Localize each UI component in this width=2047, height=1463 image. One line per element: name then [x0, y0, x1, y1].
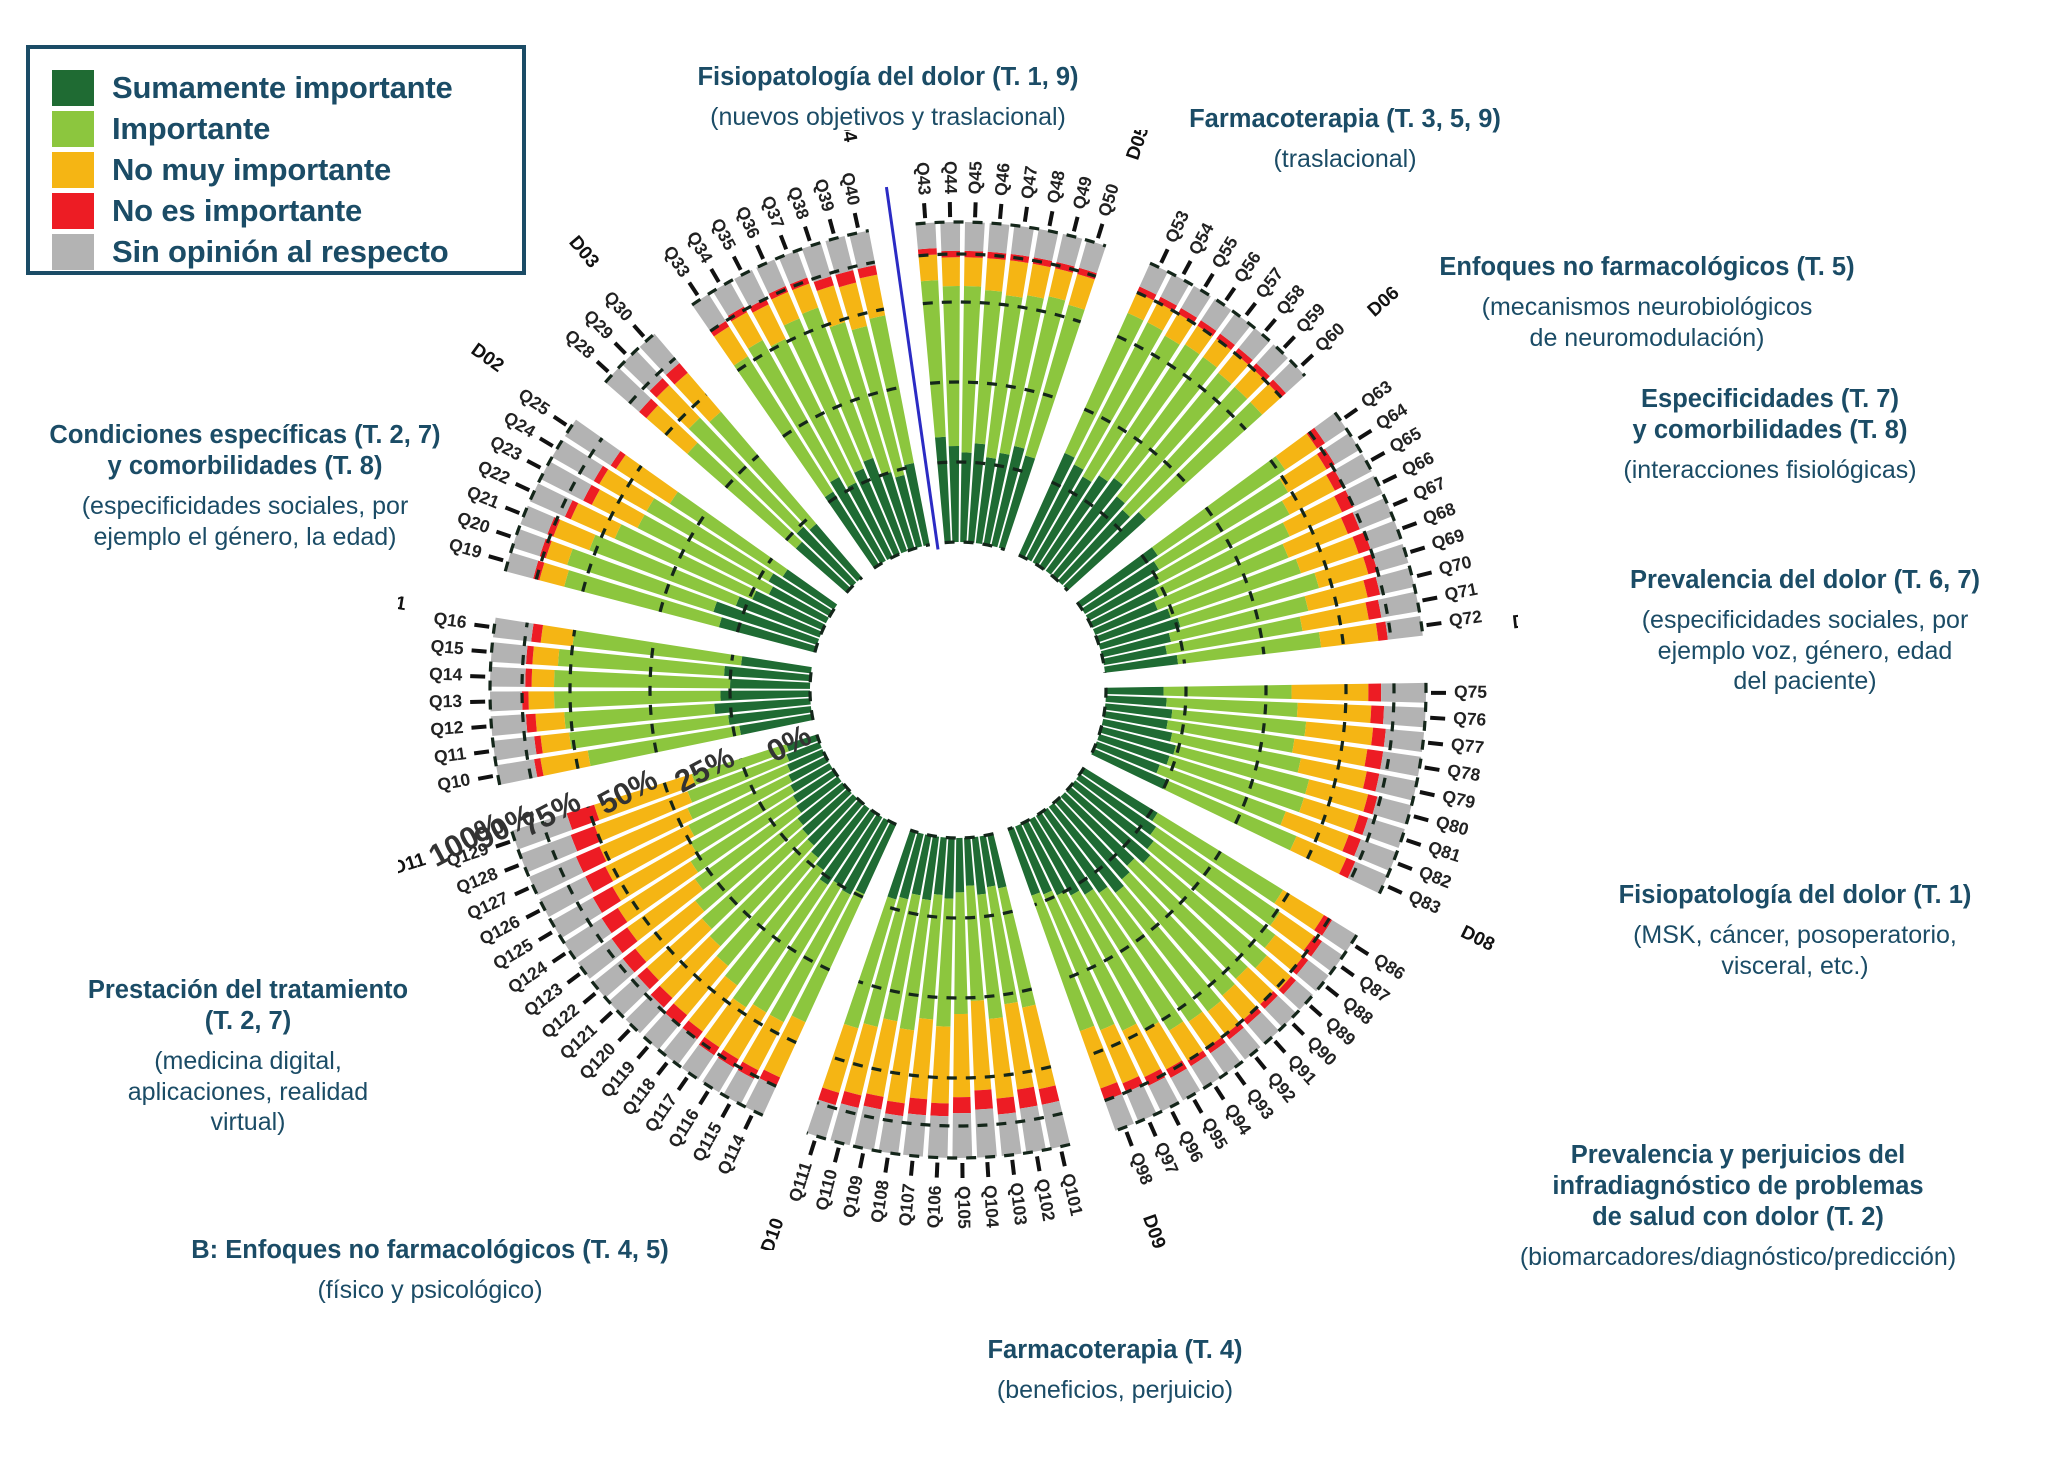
legend-label-no-es: No es importante: [112, 195, 362, 226]
chart-question-label: Q80: [1434, 811, 1471, 839]
chart-question-label: Q76: [1453, 708, 1487, 730]
chart-bar-segment: [1017, 1087, 1037, 1109]
chart-question-label: Q79: [1440, 786, 1477, 813]
chart-question-label: Q77: [1450, 734, 1485, 758]
chart-bar-segment: [985, 258, 1005, 291]
chart-question-tick: [1356, 946, 1369, 954]
chart-question-label: Q82: [1416, 862, 1454, 893]
chart-question-tick: [505, 507, 519, 513]
chart-question-label: Q44: [941, 161, 962, 195]
chart-bar-segment: [1079, 240, 1106, 273]
chart-bar-segment: [1027, 264, 1051, 299]
chart-question-label: Q104: [980, 1184, 1003, 1228]
chart-bar-segment: [505, 552, 538, 578]
chart-question-label: Q46: [991, 162, 1014, 197]
annotation-d06-subtitle: (MSK, cáncer, posoperatorio,visceral, et…: [1560, 920, 2030, 981]
chart-question-tick: [860, 1153, 863, 1168]
chart-question-tick: [1194, 1100, 1201, 1113]
annotation-d05-subtitle: (especificidades sociales, porejemplo vo…: [1570, 605, 2040, 697]
chart-bar-segment: [988, 223, 1010, 253]
chart-question-tick: [1428, 743, 1443, 745]
chart-question-label: Q83: [1406, 886, 1445, 918]
chart-bar-segment: [526, 714, 537, 733]
chart-question-label: Q39: [811, 177, 839, 214]
chart-bar-segment: [930, 1103, 948, 1117]
legend-label-sumamente: Sumamente importante: [112, 72, 453, 103]
chart-bar-segment: [1291, 684, 1368, 701]
chart-question-label: Q72: [1448, 606, 1484, 630]
chart-question-label: Q43: [913, 161, 935, 196]
chart-question-tick: [1410, 548, 1424, 552]
chart-question-label: Q22: [475, 456, 514, 488]
chart-question-tick: [678, 1078, 687, 1090]
chart-question-tick: [835, 1148, 839, 1163]
chart-question-tick: [1215, 1087, 1223, 1100]
chart-bar-segment: [493, 736, 537, 760]
chart-bar-segment: [1006, 260, 1028, 297]
chart-question-tick: [830, 219, 834, 233]
chart-question-tick: [638, 1047, 648, 1058]
chart-bar-segment: [942, 257, 960, 286]
annotation-d04-title: Especificidades (T. 7)y comorbilidades (…: [1520, 384, 2020, 446]
chart-question-label: Q107: [895, 1183, 919, 1228]
chart-bar-segment: [528, 691, 554, 709]
chart-question-label: Q66: [1399, 447, 1438, 480]
annotation-d07-title: Prevalencia y perjuicios delinfradiagnós…: [1438, 1140, 2038, 1233]
chart-question-tick: [1326, 987, 1338, 996]
chart-question-tick: [601, 1012, 612, 1022]
annotation-d04: Especificidades (T. 7)y comorbilidades (…: [1520, 384, 2020, 486]
chart-bar-segment: [541, 625, 575, 646]
chart-question-tick: [1393, 499, 1407, 505]
chart-bar-segment: [535, 712, 565, 731]
annotation-d01: Fisiopatología del dolor (T. 1, 9) (nuev…: [628, 62, 1148, 133]
legend-label-no-muy: No muy importante: [112, 154, 391, 185]
chart-bar-segment: [998, 1112, 1022, 1155]
chart-question-tick: [1342, 967, 1354, 976]
chart-bar-segment: [953, 1097, 971, 1113]
chart-bar-segment: [996, 1097, 1015, 1115]
chart-question-tick: [527, 461, 540, 468]
chart-question-tick: [1427, 623, 1442, 625]
chart-question-label: Q47: [1017, 165, 1041, 201]
chart-bar-segment: [493, 618, 534, 642]
chart-question-tick: [515, 888, 529, 894]
chart-bar-segment: [918, 255, 938, 282]
chart-bar-segment: [974, 1089, 993, 1109]
chart-question-label: Q38: [784, 184, 813, 222]
chart-question-tick: [1371, 453, 1384, 460]
chart-bar-segment: [1011, 225, 1034, 256]
chart-question-tick: [1226, 288, 1235, 300]
chart-question-tick: [1430, 718, 1445, 719]
chart-question-tick: [1161, 249, 1167, 263]
chart-question-tick: [1420, 792, 1435, 795]
chart-bar-segment: [490, 691, 522, 711]
chart-question-tick: [505, 865, 519, 871]
chart-bar-segment: [854, 1106, 881, 1151]
chart-bar-segment: [1371, 728, 1386, 747]
chart-bar-segment: [1164, 685, 1292, 699]
chart-question-label: Q101: [1058, 1171, 1087, 1217]
chart-question-tick: [1000, 204, 1001, 219]
chart-question-tick: [1398, 864, 1412, 870]
chart-question-tick: [474, 625, 489, 627]
chart-question-label: Q102: [1032, 1177, 1059, 1223]
chart-question-tick: [584, 993, 596, 1003]
chart-question-tick: [1183, 261, 1190, 274]
chart-bar-segment: [975, 1109, 997, 1158]
annotation-d08-subtitle: (beneficios, perjuicio): [885, 1375, 1345, 1406]
chart-question-tick: [1275, 1041, 1285, 1052]
chart-question-tick: [1417, 572, 1432, 576]
chart-question-tick: [634, 325, 644, 336]
chart-question-tick: [554, 417, 566, 425]
chart-question-tick: [700, 1091, 708, 1104]
chart-question-tick: [1266, 319, 1276, 330]
chart-bar-segment: [532, 646, 559, 666]
chart-bar-segment: [954, 892, 968, 1014]
chart-domain-label: D06: [1364, 282, 1404, 321]
chart-question-label: Q96: [1175, 1127, 1208, 1166]
chart-question-tick: [1425, 767, 1440, 769]
chart-question-tick: [1062, 1152, 1065, 1167]
chart-question-label: Q97: [1151, 1139, 1183, 1177]
annotation-d06: Fisiopatología del dolor (T. 1) (MSK, cá…: [1560, 880, 2030, 981]
chart-bar-segment: [956, 838, 965, 892]
chart-gridline: [810, 667, 813, 720]
annotation-d09-subtitle: (físico y psicológico): [110, 1275, 750, 1306]
chart-question-label: Q106: [923, 1185, 945, 1229]
legend-swatch-sin-opinion: [52, 234, 94, 270]
chart-question-label: Q108: [867, 1179, 893, 1225]
chart-question-tick: [911, 1161, 912, 1176]
chart-bar-segment: [965, 222, 985, 251]
chart-question-tick: [526, 911, 539, 918]
chart-question-tick: [1359, 431, 1372, 439]
chart-question-tick: [1025, 207, 1027, 222]
chart-question-tick: [1050, 211, 1053, 226]
chart-bar-segment: [1049, 268, 1073, 300]
chart-question-tick: [478, 776, 493, 779]
chart-question-tick: [1037, 1156, 1040, 1171]
chart-question-tick: [1310, 1006, 1321, 1016]
chart-svg: Q10Q11Q12Q13Q14Q15Q16Q19Q20Q21Q22Q23Q24Q…: [398, 130, 1518, 1250]
annotation-d05-title: Prevalencia del dolor (T. 6, 7): [1570, 565, 2040, 596]
chart-bar-segment: [908, 1098, 927, 1116]
chart-question-tick: [1150, 1122, 1156, 1136]
chart-question-tick: [474, 751, 489, 753]
chart-bar-segment: [1068, 274, 1094, 310]
legend-item: Sumamente importante: [52, 67, 502, 108]
annotation-d07: Prevalencia y perjuicios delinfradiagnós…: [1438, 1140, 2038, 1273]
chart-bar-segment: [935, 437, 951, 543]
chart-bar-segment: [952, 1113, 972, 1158]
chart-question-label: Q15: [430, 636, 465, 659]
chart-question-tick: [1284, 337, 1294, 348]
annotation-d05: Prevalencia del dolor (T. 6, 7) (especif…: [1570, 565, 2040, 697]
chart-domain-label: D02: [467, 339, 508, 376]
chart-question-tick: [1127, 1132, 1132, 1146]
chart-question-label: Q69: [1429, 525, 1467, 554]
chart-question-tick: [1012, 1160, 1014, 1175]
chart-question-tick: [658, 1063, 667, 1075]
annotation-d01-subtitle: (nuevos objetivos y traslacional): [628, 102, 1148, 133]
chart-question-label: Q37: [758, 193, 789, 231]
chart-bar-segment: [916, 223, 937, 250]
chart-question-tick: [1407, 840, 1421, 845]
chart-bar-segment: [1106, 687, 1164, 696]
annotation-d08: Farmacoterapia (T. 4) (beneficios, perju…: [885, 1335, 1345, 1406]
chart-question-tick: [568, 974, 580, 983]
chart-bar-segment: [1368, 684, 1381, 702]
chart-bar-segment: [1297, 703, 1371, 723]
chart-question-label: Q67: [1410, 473, 1448, 504]
chart-question-tick: [496, 532, 510, 537]
chart-question-label: Q49: [1068, 174, 1096, 211]
chart-question-tick: [1098, 224, 1102, 238]
chart-question-label: Q10: [436, 769, 472, 795]
chart-question-tick: [1074, 217, 1078, 232]
chart-domain-label: D08: [1457, 922, 1498, 956]
chart-question-label: Q110: [811, 1167, 841, 1213]
annotation-d08-title: Farmacoterapia (T. 4): [885, 1335, 1345, 1366]
chart-domain-label: D10: [757, 1216, 788, 1250]
chart-bar-segment: [490, 667, 526, 687]
chart-question-label: Q81: [1426, 837, 1464, 867]
annotation-d10: Prestación del tratamiento(T. 2, 7) (med…: [38, 975, 458, 1138]
chart-question-tick: [885, 1158, 887, 1173]
chart-question-tick: [855, 213, 858, 228]
chart-question-tick: [1345, 409, 1357, 418]
chart-bar-segment: [885, 1101, 905, 1116]
chart-question-tick: [489, 556, 503, 560]
chart-question-tick: [1236, 1073, 1245, 1085]
chart-domain-label: D05: [1123, 130, 1154, 163]
annotation-d10-subtitle: (medicina digital,aplicaciones, realidad…: [38, 1046, 458, 1138]
chart-question-tick: [540, 438, 553, 446]
chart-question-tick: [1172, 1112, 1179, 1125]
chart-question-tick: [805, 227, 810, 241]
chart-question-label: Q13: [429, 691, 463, 712]
chart-domain-label: D09: [1138, 1212, 1169, 1250]
chart-question-tick: [597, 362, 608, 372]
chart-question-tick: [745, 1116, 752, 1129]
chart-question-tick: [1402, 523, 1416, 528]
chart-question-tick: [1246, 303, 1255, 315]
chart-question-tick: [975, 202, 976, 217]
chart-question-label: Q78: [1446, 760, 1482, 785]
chart-bar-segment: [940, 222, 960, 251]
chart-question-label: Q14: [429, 664, 463, 685]
chart-question-label: Q111: [784, 1159, 816, 1204]
legend-label-importante: Importante: [112, 113, 270, 144]
chart-question-label: Q12: [430, 717, 465, 740]
chart-question-label: Q16: [433, 608, 469, 632]
chart-question-label: Q20: [455, 508, 493, 538]
chart-question-label: Q68: [1420, 498, 1458, 528]
chart-bar-segment: [943, 286, 960, 446]
chart-question-label: Q71: [1443, 579, 1480, 605]
chart-bar-segment: [1364, 749, 1383, 769]
chart-question-tick: [553, 953, 565, 961]
chart-question-label: Q105: [954, 1186, 974, 1229]
chart-question-tick: [1256, 1057, 1265, 1069]
chart-question-label: Q45: [965, 161, 986, 195]
chart-question-label: Q109: [839, 1173, 867, 1219]
chart-question-label: Q50: [1094, 181, 1123, 219]
chart-bar-segment: [1042, 1101, 1070, 1149]
chart-question-tick: [1383, 476, 1396, 483]
chart-question-tick: [757, 245, 763, 259]
chart-question-tick: [1388, 887, 1402, 893]
legend-swatch-no-muy: [52, 152, 94, 188]
chart-question-tick: [539, 932, 552, 940]
chart-bar-segment: [1020, 1106, 1046, 1153]
chart-question-tick: [619, 1030, 629, 1041]
chart-bar-segment: [807, 1100, 836, 1139]
annotation-d10-title: Prestación del tratamiento(T. 2, 7): [38, 975, 458, 1037]
chart-bar-segment: [532, 669, 555, 687]
chart-domain-label: D07: [1511, 609, 1518, 634]
chart-question-label: Q98: [1127, 1149, 1158, 1187]
chart-question-label: Q11: [433, 743, 468, 767]
chart-question-label: Q19: [447, 534, 485, 562]
chart-domain-label: D04: [833, 130, 860, 144]
chart-bar-segment: [1057, 234, 1083, 267]
chart-bar-segment: [964, 257, 983, 286]
legend-swatch-importante: [52, 111, 94, 147]
chart-bar-segment: [525, 669, 532, 687]
chart-question-tick: [689, 283, 697, 296]
chart-question-tick: [810, 1141, 815, 1155]
chart-question-tick: [924, 203, 925, 218]
radial-stacked-bar-chart: Q10Q11Q12Q13Q14Q15Q16Q19Q20Q21Q22Q23Q24Q…: [398, 130, 1518, 1250]
chart-question-tick: [516, 484, 530, 490]
legend-swatch-sumamente: [52, 70, 94, 106]
chart-bar-segment: [539, 563, 568, 587]
chart-bar-segment: [931, 1026, 950, 1103]
chart-bar-segment: [1383, 706, 1426, 727]
legend-swatch-no-es: [52, 193, 94, 229]
chart-question-tick: [1302, 355, 1313, 365]
chart-question-label: Q21: [464, 482, 502, 513]
chart-question-tick: [987, 1162, 988, 1177]
chart-question-tick: [722, 1104, 729, 1117]
chart-question-tick: [1414, 816, 1428, 820]
chart-question-label: Q40: [838, 170, 865, 207]
chart-domain-label: D03: [564, 232, 603, 272]
annotation-d01-title: Fisiopatología del dolor (T. 1, 9): [628, 62, 1148, 93]
chart-question-label: Q75: [1454, 682, 1487, 702]
chart-domain-label: D01: [398, 589, 408, 615]
chart-question-tick: [471, 727, 486, 728]
annotation-d04-subtitle: (interacciones fisiológicas): [1520, 455, 2020, 486]
chart-bars-layer: [490, 222, 1426, 1158]
chart-question-label: Q103: [1006, 1181, 1031, 1226]
chart-bar-segment: [903, 1113, 926, 1156]
chart-question-tick: [781, 235, 786, 249]
chart-question-tick: [711, 269, 719, 282]
chart-question-tick: [615, 343, 626, 354]
chart-question-tick: [472, 650, 487, 651]
chart-bar-segment: [1370, 706, 1384, 725]
chart-bar-segment: [540, 733, 571, 754]
annotation-d06-title: Fisiopatología del dolor (T. 1): [1560, 880, 2030, 911]
chart-question-tick: [734, 257, 741, 270]
chart-bar-segment: [1381, 683, 1426, 703]
chart-domain-label: D11: [398, 849, 429, 879]
chart-question-tick: [1205, 274, 1213, 287]
chart-question-label: Q70: [1437, 551, 1474, 578]
chart-question-tick: [937, 1163, 938, 1178]
chart-bar-segment: [540, 750, 590, 775]
chart-question-tick: [1422, 598, 1437, 601]
chart-question-tick: [1293, 1024, 1304, 1035]
annotation-d07-subtitle: (biomarcadores/diagnóstico/predicción): [1438, 1242, 2038, 1273]
chart-bar-segment: [928, 1116, 949, 1158]
chart-bar-segment: [1034, 229, 1058, 261]
chart-question-label: Q48: [1043, 168, 1069, 205]
chart-bar-segment: [953, 1014, 970, 1097]
